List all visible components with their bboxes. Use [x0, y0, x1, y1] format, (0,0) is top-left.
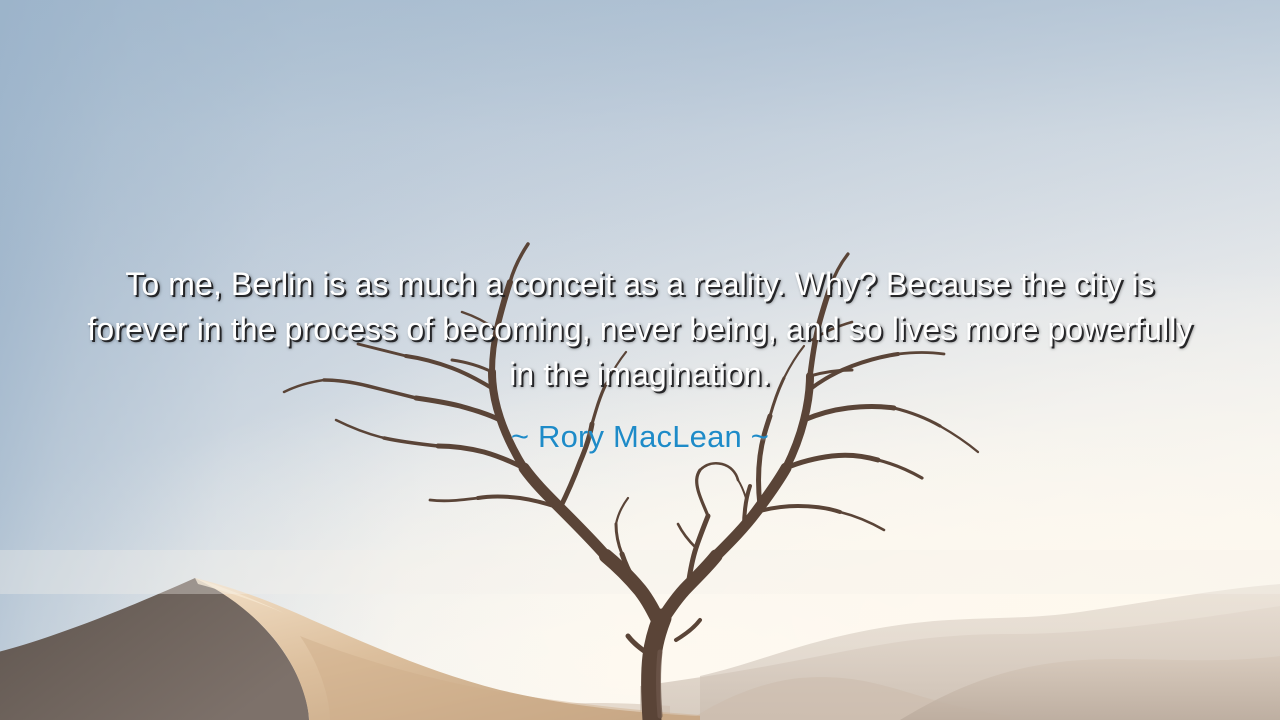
sky-top-haze [0, 0, 1280, 300]
quote-block: To me, Berlin is as much a conceit as a … [0, 262, 1280, 456]
quote-image: To me, Berlin is as much a conceit as a … [0, 0, 1280, 720]
quote-author: ~ Rory MacLean ~ [60, 418, 1220, 456]
desert-dunes [0, 550, 1280, 720]
quote-text: To me, Berlin is as much a conceit as a … [73, 262, 1208, 397]
